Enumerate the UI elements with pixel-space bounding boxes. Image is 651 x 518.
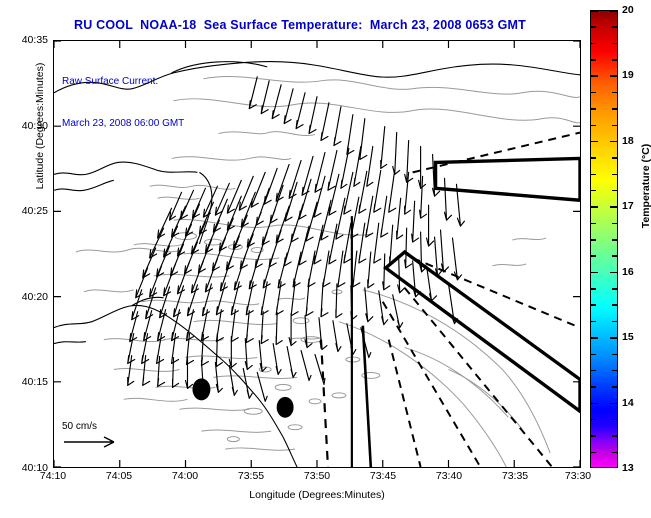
ytick-label: 40:20 xyxy=(22,291,48,303)
current-annotation: Raw Surface Current: March 23, 2008 06:0… xyxy=(62,47,184,159)
colorbar-tick-label: 18 xyxy=(622,135,634,147)
xtick-label: 73:35 xyxy=(502,470,528,482)
figure-canvas: RU COOL NOAA-18 Sea Surface Temperature:… xyxy=(0,0,651,518)
arrow-right-icon xyxy=(62,435,126,449)
traffic-separation-dashed-lines xyxy=(383,133,580,467)
map-plot-area[interactable]: Raw Surface Current: March 23, 2008 06:0… xyxy=(53,40,581,468)
colorbar-tick-label: 17 xyxy=(622,200,634,212)
xtick-label: 73:30 xyxy=(565,470,591,482)
xtick-label: 73:45 xyxy=(370,470,396,482)
ytick-label: 40:10 xyxy=(22,462,48,474)
y-axis-label: Latitude (Degrees:Minutes) xyxy=(34,26,46,226)
colorbar-tick-label: 13 xyxy=(622,462,634,474)
scale-legend: 50 cm/s xyxy=(62,421,172,449)
xtick-label: 74:00 xyxy=(172,470,198,482)
annotation-line-1: Raw Surface Current: xyxy=(62,75,184,89)
colorbar-tick-label: 19 xyxy=(622,69,634,81)
colorbar-tick-label: 14 xyxy=(622,397,634,409)
x-axis-label: Longitude (Degrees:Minutes) xyxy=(53,489,581,501)
colorbar-axis-label: Temperature (°C) xyxy=(640,116,651,256)
ytick-label: 40:15 xyxy=(22,376,48,388)
xtick-label: 73:55 xyxy=(238,470,264,482)
xtick-label: 74:05 xyxy=(106,470,132,482)
scale-legend-label: 50 cm/s xyxy=(62,421,172,433)
colorbar-tick-label: 20 xyxy=(622,4,634,16)
colorbar-gradient xyxy=(590,10,618,468)
xtick-label: 73:40 xyxy=(436,470,462,482)
page-title: RU COOL NOAA-18 Sea Surface Temperature:… xyxy=(0,18,600,32)
annotation-line-2: March 23, 2008 06:00 GMT xyxy=(62,117,184,131)
colorbar-tick-label: 15 xyxy=(622,331,634,343)
colorbar-tick-label: 16 xyxy=(622,266,634,278)
xtick-label: 73:50 xyxy=(304,470,330,482)
